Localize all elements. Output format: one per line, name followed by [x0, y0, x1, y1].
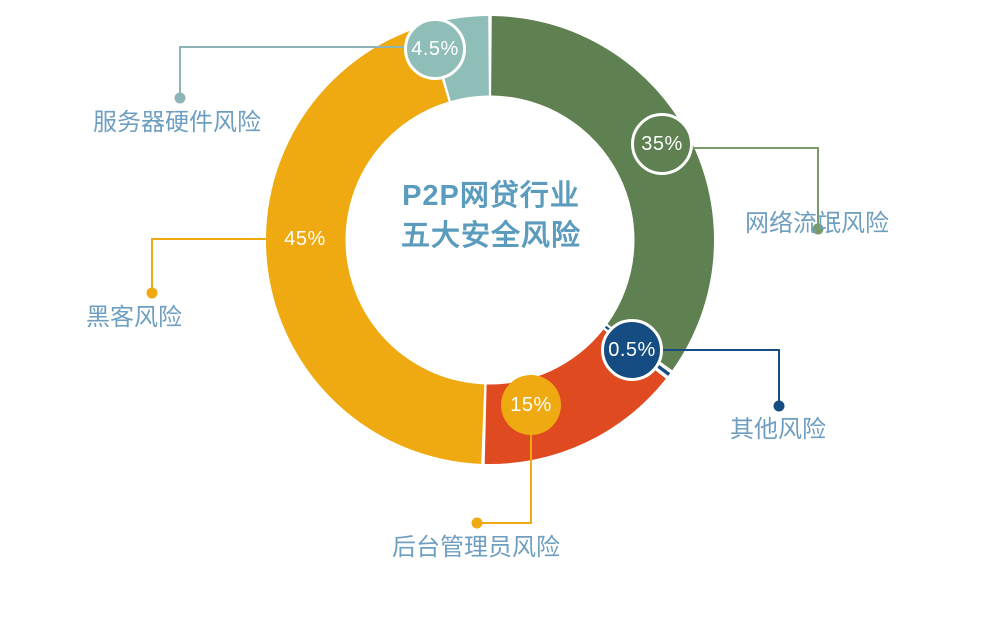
percent-badge-houtaiguanliyuan[interactable]: 15% — [501, 375, 561, 435]
leader-dot-houtaiguanliyuan — [472, 518, 483, 529]
callout-label-qita[interactable]: 其他风险 — [730, 415, 826, 445]
infographic-canvas: P2P网贷行业 五大安全风险 35% 0.5% 15% 45% 4.5% 网络流… — [0, 0, 1002, 631]
percent-badge-qita[interactable]: 0.5% — [601, 319, 663, 381]
donut-segment-wangluoliumang[interactable] — [491, 16, 714, 370]
leader-line-heike — [152, 239, 275, 293]
leader-dot-fuwuqiyingjian — [175, 93, 186, 104]
leader-dot-qita — [774, 401, 785, 412]
percent-badge-wangluoliumang[interactable]: 35% — [631, 113, 693, 175]
callout-label-fuwuqiyingjian[interactable]: 服务器硬件风险 — [93, 108, 261, 138]
leader-dot-heike — [147, 288, 158, 299]
percent-badge-heike[interactable]: 45% — [275, 209, 335, 269]
callout-label-houtaiguanliyuan[interactable]: 后台管理员风险 — [392, 533, 560, 563]
percent-badge-fuwuqiyingjian[interactable]: 4.5% — [404, 18, 466, 80]
callout-label-heike[interactable]: 黑客风险 — [86, 303, 182, 333]
callout-label-wangluoliumang[interactable]: 网络流氓风险 — [745, 209, 889, 239]
